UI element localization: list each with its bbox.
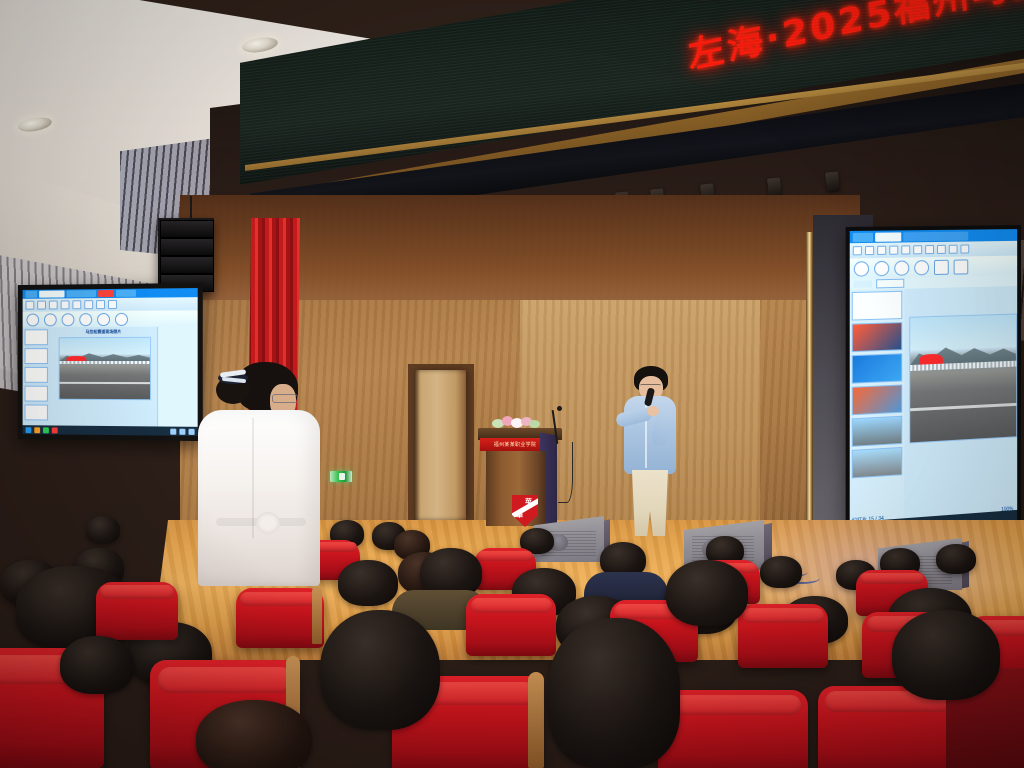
right-screen-thumbnail-panel[interactable] xyxy=(850,289,905,526)
audience-head xyxy=(666,560,748,626)
exit-sign xyxy=(330,471,352,482)
auditorium-seat[interactable] xyxy=(96,582,178,640)
speaker-rigging-rod xyxy=(190,196,192,220)
line-array-speaker xyxy=(158,218,214,292)
audience-head xyxy=(338,560,398,606)
slide-thumbnail[interactable] xyxy=(852,322,903,352)
left-projection-screen: 马拉松赛道现场照片 xyxy=(18,283,203,441)
presenter-trousers xyxy=(632,470,668,536)
auditorium-photo: 左海 左海·2025福州马拉松青年 xyxy=(0,0,1024,768)
right-slide-photo xyxy=(909,313,1017,444)
audience-head xyxy=(86,516,120,544)
standing-attendee xyxy=(198,362,326,582)
auditorium-seat[interactable] xyxy=(738,604,828,668)
left-slide-title: 马拉松赛道现场照片 xyxy=(85,329,121,335)
emblem-char-bottom: 華 xyxy=(516,510,523,520)
lectern-podium: 福州某某职业学院 苹 華 xyxy=(478,418,562,526)
audience-head xyxy=(320,610,440,730)
left-slide-photo xyxy=(58,337,150,401)
audience-head xyxy=(548,618,680,768)
podium-front-panel: 苹 華 xyxy=(486,451,546,526)
audience-head xyxy=(196,700,312,768)
seat-wood-trim xyxy=(528,672,544,768)
presenter-hand xyxy=(647,406,659,416)
audience-head xyxy=(60,636,134,694)
slide-thumbnail[interactable] xyxy=(852,447,903,479)
auditorium-seat[interactable] xyxy=(236,588,324,648)
attendee-white-shirt xyxy=(198,410,320,586)
stage-light-icon xyxy=(825,171,840,191)
slide-thumbnail[interactable] xyxy=(852,416,903,447)
left-screen-taskbar[interactable] xyxy=(23,425,198,436)
led-banner-secondary-text: 左海 xyxy=(693,0,757,4)
podium-banner-text: 福州某某职业学院 xyxy=(494,441,536,448)
microphone-cable xyxy=(558,442,573,503)
left-screen-ribbon[interactable] xyxy=(23,297,198,312)
hair-bow-icon xyxy=(218,372,248,384)
presenter-speaker xyxy=(614,366,684,536)
wall-gold-vertical-trim xyxy=(806,232,813,552)
audience-head xyxy=(892,610,1000,700)
slide-thumbnail[interactable] xyxy=(852,384,903,415)
glasses-icon xyxy=(272,394,298,403)
podium-microphone-icon xyxy=(557,406,562,411)
auditorium-seat[interactable] xyxy=(658,690,808,768)
stage-door[interactable] xyxy=(414,370,466,520)
slide-thumbnail[interactable] xyxy=(852,291,903,321)
left-screen-ribbon-row2[interactable] xyxy=(23,310,198,327)
auditorium-seat[interactable] xyxy=(466,594,556,656)
left-screen-slide-area[interactable]: 马拉松赛道现场照片 xyxy=(50,327,157,427)
audience-head xyxy=(936,544,976,574)
right-screen-slide-area[interactable] xyxy=(905,286,1018,521)
attendee-belt-knot xyxy=(256,512,280,534)
slide-thumbnail[interactable] xyxy=(852,353,903,383)
seat-wood-trim xyxy=(312,586,322,644)
emblem-char-top: 苹 xyxy=(525,497,532,507)
right-projection-screen: 幻灯片 15 / 34 100% xyxy=(846,225,1021,539)
audience-head xyxy=(760,556,802,588)
